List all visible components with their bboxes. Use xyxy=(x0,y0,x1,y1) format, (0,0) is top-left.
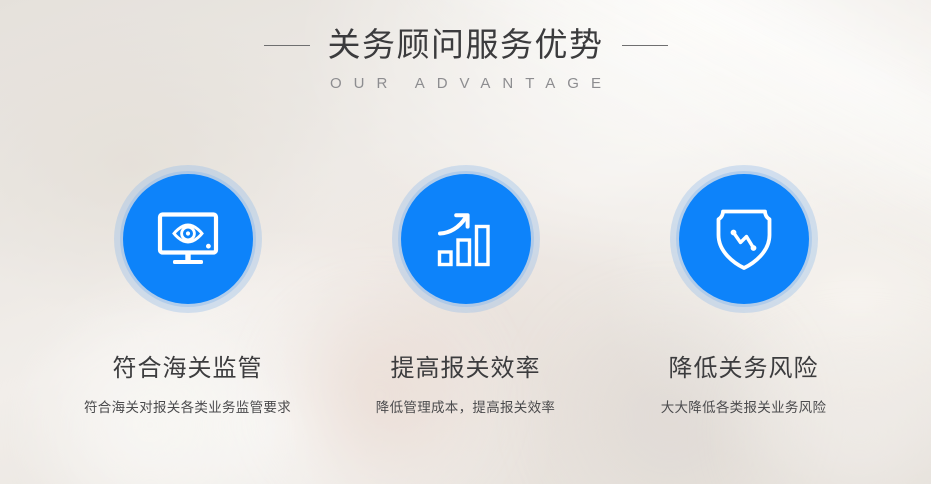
icon-disc xyxy=(679,174,809,304)
icon-halo xyxy=(114,165,262,313)
title-row: 关务顾问服务优势 xyxy=(0,26,931,65)
page-title: 关务顾问服务优势 xyxy=(328,26,604,65)
advantage-card-description: 符合海关对报关各类业务监管要求 xyxy=(84,396,291,416)
advantage-card: 降低关务风险 大大降低各类报关业务风险 xyxy=(605,165,883,416)
advantage-card-title: 降低关务风险 xyxy=(669,348,819,383)
banner-header: 关务顾问服务优势 OUR ADVANTAGE xyxy=(0,26,931,92)
icon-disc xyxy=(123,174,253,304)
monitor-eye-icon xyxy=(157,212,219,266)
advantage-banner: 关务顾问服务优势 OUR ADVANTAGE xyxy=(0,0,931,484)
advantage-card-description: 降低管理成本，提高报关效率 xyxy=(376,396,555,416)
title-rule-right-icon xyxy=(622,45,668,46)
advantage-card-title: 符合海关监管 xyxy=(113,348,263,383)
advantage-card: 符合海关监管 符合海关对报关各类业务监管要求 xyxy=(49,165,327,416)
advantage-card-description: 大大降低各类报关业务风险 xyxy=(661,396,827,416)
icon-halo xyxy=(392,165,540,313)
advantage-card-title: 提高报关效率 xyxy=(391,348,541,383)
advantage-card-list: 符合海关监管 符合海关对报关各类业务监管要求 xyxy=(0,165,931,416)
bar-chart-growth-icon xyxy=(437,210,495,268)
shield-risk-icon xyxy=(715,207,773,271)
page-subtitle: OUR ADVANTAGE xyxy=(0,75,931,92)
title-rule-left-icon xyxy=(264,45,310,46)
advantage-card: 提高报关效率 降低管理成本，提高报关效率 xyxy=(327,165,605,416)
icon-halo xyxy=(670,165,818,313)
icon-disc xyxy=(401,174,531,304)
